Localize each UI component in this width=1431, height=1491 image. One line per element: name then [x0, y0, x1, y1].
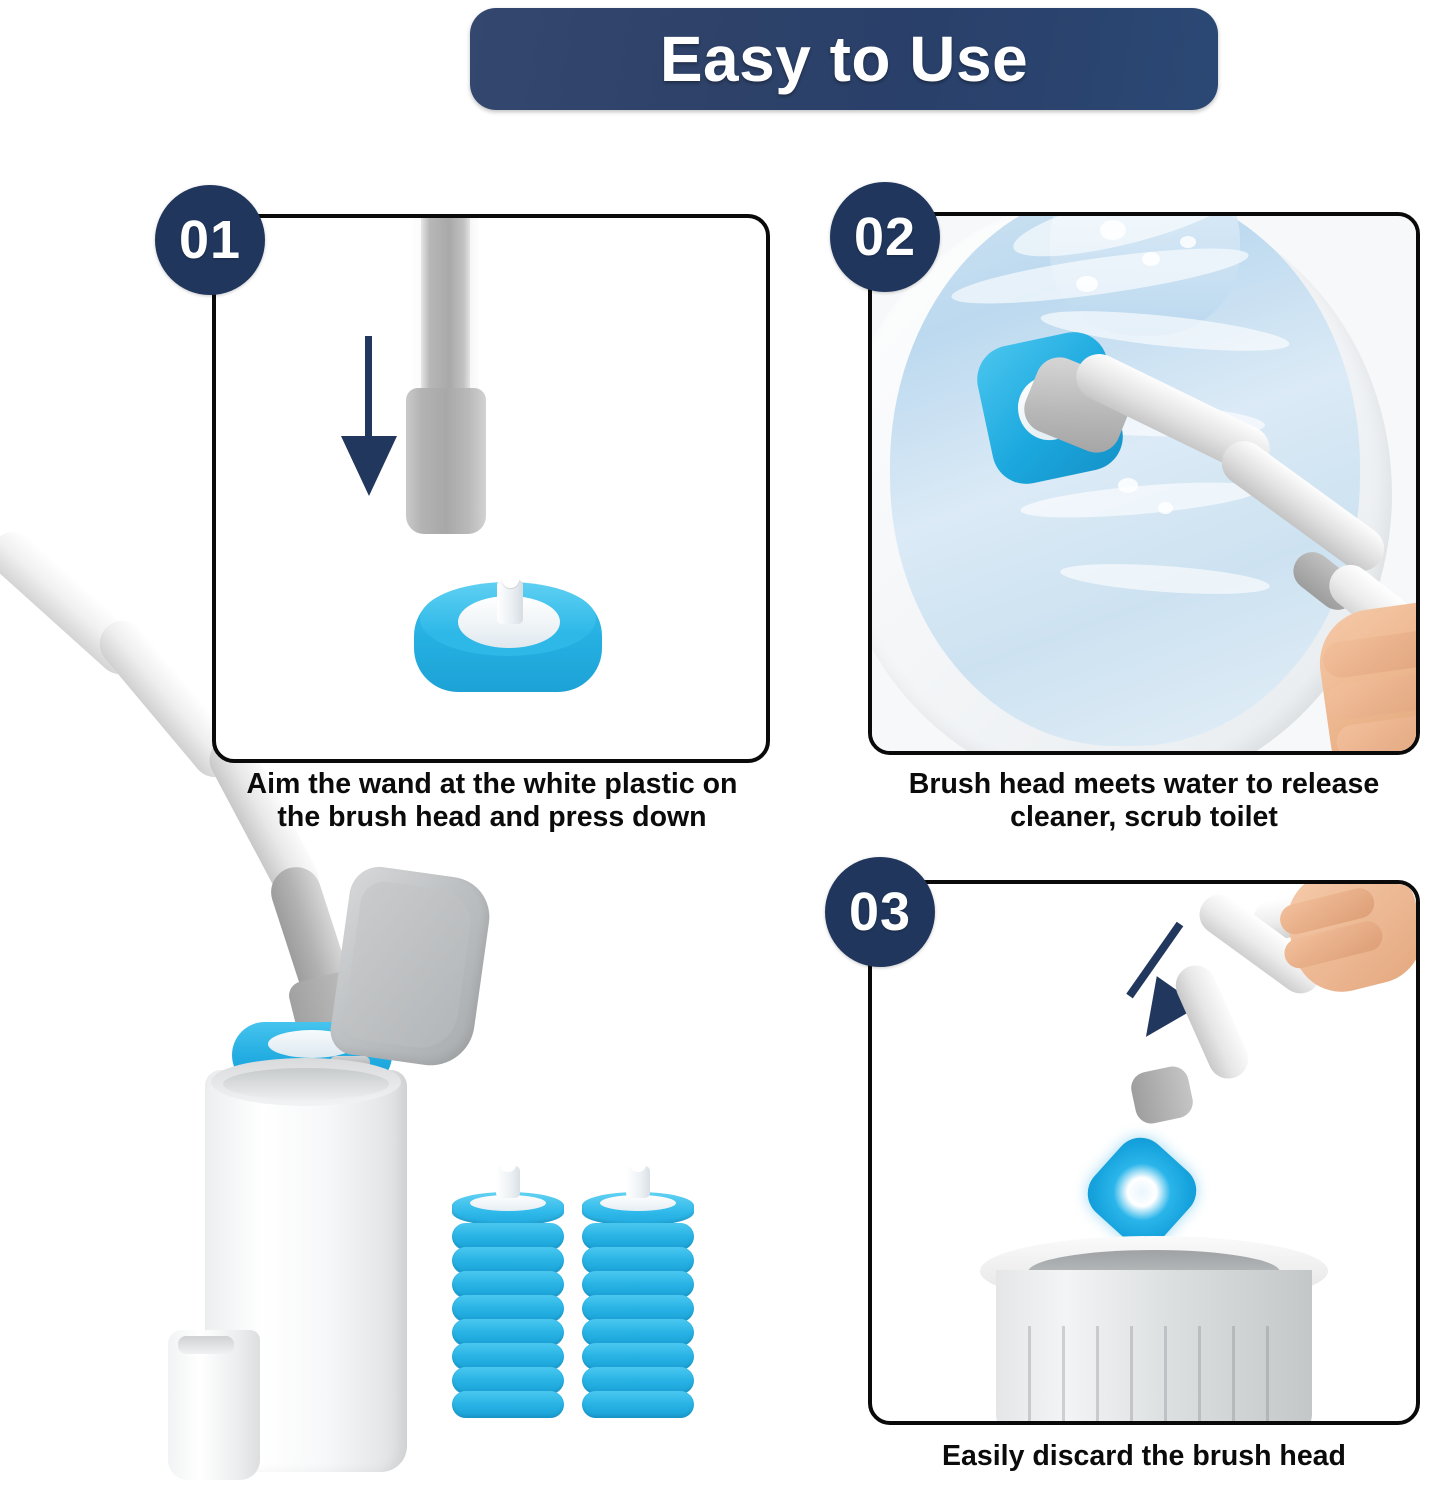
water-bubble: [1100, 220, 1126, 240]
step-caption-01: Aim the wand at the white plastic on the…: [212, 768, 772, 834]
wand-highlight-left: [414, 214, 421, 402]
step-badge-03-label: 03: [849, 881, 911, 943]
finger: [1321, 628, 1420, 680]
step-badge-01-label: 01: [179, 209, 241, 271]
step-caption-03-line1: Easily discard the brush head: [868, 1440, 1420, 1473]
trash-can-rib: [1062, 1326, 1065, 1425]
sponge-knob: [502, 572, 519, 588]
wand-release-tip: [1128, 1064, 1196, 1127]
water-bubble: [1180, 236, 1196, 248]
trash-can-rib: [1198, 1326, 1201, 1425]
refill-stack-right: [582, 1192, 694, 1415]
refill-disc: [452, 1343, 564, 1370]
refill-cap-knob: [630, 1158, 646, 1172]
sponge-disc-illustration: [414, 574, 602, 698]
header-banner: Easy to Use: [470, 8, 1218, 110]
water-bubble: [1076, 276, 1098, 292]
wand-segment-3: [1169, 959, 1254, 1085]
refill-disc: [582, 1271, 694, 1298]
refill-disc: [582, 1223, 694, 1250]
wand-arm: [1068, 366, 1408, 626]
refill-disc: [452, 1367, 564, 1394]
trash-can-rib: [1028, 1326, 1031, 1425]
step-caption-01-line1: Aim the wand at the white plastic on: [212, 768, 772, 801]
trash-can-rib: [1232, 1326, 1235, 1425]
trash-can-body: [996, 1270, 1312, 1425]
caddy-lid-inner: [342, 879, 475, 1053]
refill-disc: [582, 1343, 694, 1370]
toilet-photo: [872, 216, 1416, 751]
step-badge-02: 02: [830, 182, 940, 292]
wand-tip-illustration: [398, 214, 494, 542]
caddy-front-holder: [168, 1330, 260, 1480]
refill-disc: [452, 1295, 564, 1322]
step-caption-02-line2: cleaner, scrub toilet: [868, 801, 1420, 834]
refill-disc: [452, 1391, 564, 1418]
refill-cap: [496, 1166, 520, 1198]
water-bubble: [1142, 252, 1160, 266]
refill-disc: [452, 1271, 564, 1298]
step-badge-01: 01: [155, 185, 265, 295]
trash-can-rib: [1164, 1326, 1167, 1425]
wand-neck: [406, 388, 486, 534]
refill-disc: [452, 1247, 564, 1274]
wand-highlight-right: [470, 214, 478, 406]
refill-cap: [626, 1166, 650, 1198]
trash-can-rib: [1266, 1326, 1269, 1425]
trash-can-rib: [1130, 1326, 1133, 1425]
caddy-front-notch: [178, 1336, 234, 1354]
refill-stack-left: [452, 1192, 564, 1415]
step-box-01: [212, 214, 770, 763]
step-caption-02-line1: Brush head meets water to release: [868, 768, 1420, 801]
refill-disc: [582, 1319, 694, 1346]
trash-can-rib: [1096, 1326, 1099, 1425]
caddy-lid: [327, 863, 494, 1071]
refill-disc: [452, 1319, 564, 1346]
arrow-shaft: [365, 336, 372, 446]
step-badge-03: 03: [825, 857, 935, 967]
page-title: Easy to Use: [660, 27, 1028, 91]
step-caption-02: Brush head meets water to release cleane…: [868, 768, 1420, 834]
refill-disc: [582, 1391, 694, 1418]
refill-disc: [582, 1247, 694, 1274]
refill-disc: [582, 1295, 694, 1322]
refill-cap-knob: [500, 1158, 516, 1172]
arrow-head: [341, 436, 397, 496]
step-box-02: [868, 212, 1420, 755]
step-caption-03: Easily discard the brush head: [868, 1440, 1420, 1473]
down-arrow-icon: [341, 336, 397, 496]
step-badge-02-label: 02: [854, 206, 916, 268]
trash-can: [980, 1236, 1328, 1425]
step-caption-01-line2: the brush head and press down: [212, 801, 772, 834]
step-box-03: [868, 880, 1420, 1425]
refill-disc: [582, 1367, 694, 1394]
refill-disc: [452, 1223, 564, 1250]
caddy-mouth-inner: [223, 1068, 389, 1100]
